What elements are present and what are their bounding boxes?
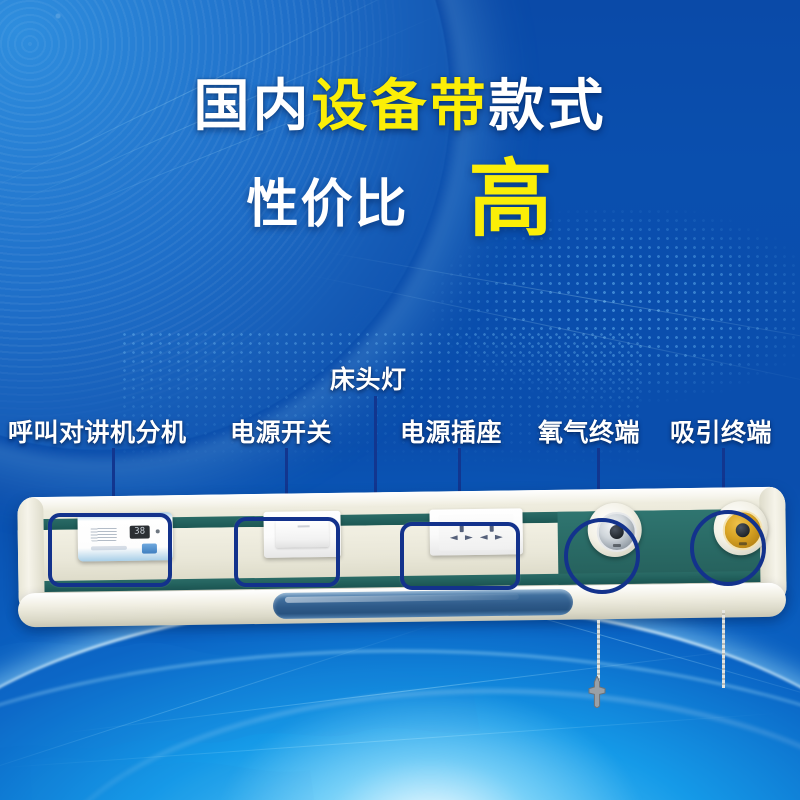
headline-line-2: 性价比 高 (0, 160, 800, 240)
callout-label-intercom: 呼叫对讲机分机 (8, 413, 187, 449)
headline-line-1: 国内设备带款式 (0, 78, 800, 134)
callout-label-socket: 电源插座 (400, 413, 502, 449)
bed-light-diffuser[interactable] (273, 589, 573, 619)
headline-emphasis: 高 (469, 160, 554, 240)
highlight-circle-oxygen (564, 518, 640, 594)
highlight-box-socket (400, 522, 520, 590)
pull-cord-handle-icon[interactable] (584, 676, 610, 708)
horizon-glow (220, 690, 640, 800)
highlight-box-switch (234, 517, 340, 587)
callout-label-switch: 电源开关 (230, 413, 332, 449)
highlight-circle-suction (690, 510, 766, 586)
highlight-box-intercom (48, 513, 172, 587)
callout-label-oxygen: 氧气终端 (538, 413, 640, 449)
suction-cord (722, 610, 725, 688)
banner-stage: 国内设备带款式 性价比 高 呼叫对讲机分机 电源开关 床头灯 电源插座 氧气终端… (0, 0, 800, 800)
callout-label-bedlight: 床头灯 (330, 360, 407, 396)
headline-accent: 设备带 (312, 74, 489, 137)
headline-prefix: 国内 (194, 74, 312, 137)
diffuser-gloss (285, 594, 519, 603)
callout-label-suction: 吸引终端 (670, 413, 772, 449)
headline-suffix: 款式 (489, 74, 607, 137)
headline-subtitle: 性价比 (246, 162, 408, 237)
